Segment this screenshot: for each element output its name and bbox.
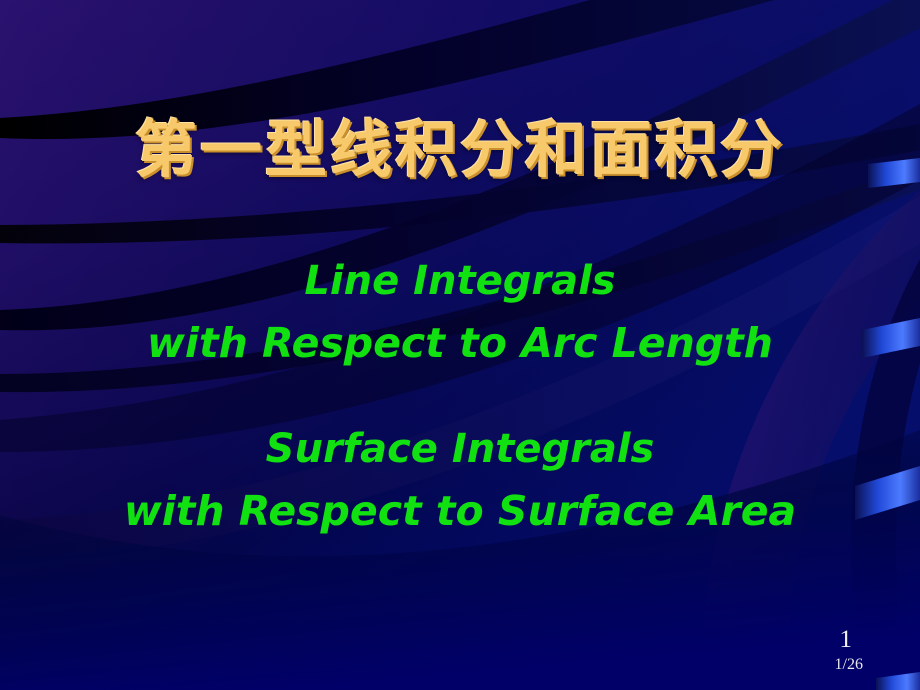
slide-canvas: 第一型线积分和面积分 Line Integrals with Respect t… bbox=[0, 0, 920, 690]
page-number-fraction: 1/26 bbox=[835, 657, 863, 673]
surface-integrals-heading: Surface Integrals bbox=[0, 427, 920, 472]
slide-content: 第一型线积分和面积分 Line Integrals with Respect t… bbox=[0, 0, 920, 690]
section-line-integrals: Line Integrals with Respect to Arc Lengt… bbox=[0, 259, 920, 367]
section-surface-integrals: Surface Integrals with Respect to Surfac… bbox=[0, 427, 920, 535]
page-number: 1 bbox=[840, 627, 853, 652]
line-integrals-subheading: with Respect to Arc Length bbox=[0, 320, 920, 366]
slide-title-chinese: 第一型线积分和面积分 bbox=[0, 119, 920, 181]
line-integrals-heading: Line Integrals bbox=[0, 259, 920, 304]
surface-integrals-subheading: with Respect to Surface Area bbox=[0, 488, 920, 534]
